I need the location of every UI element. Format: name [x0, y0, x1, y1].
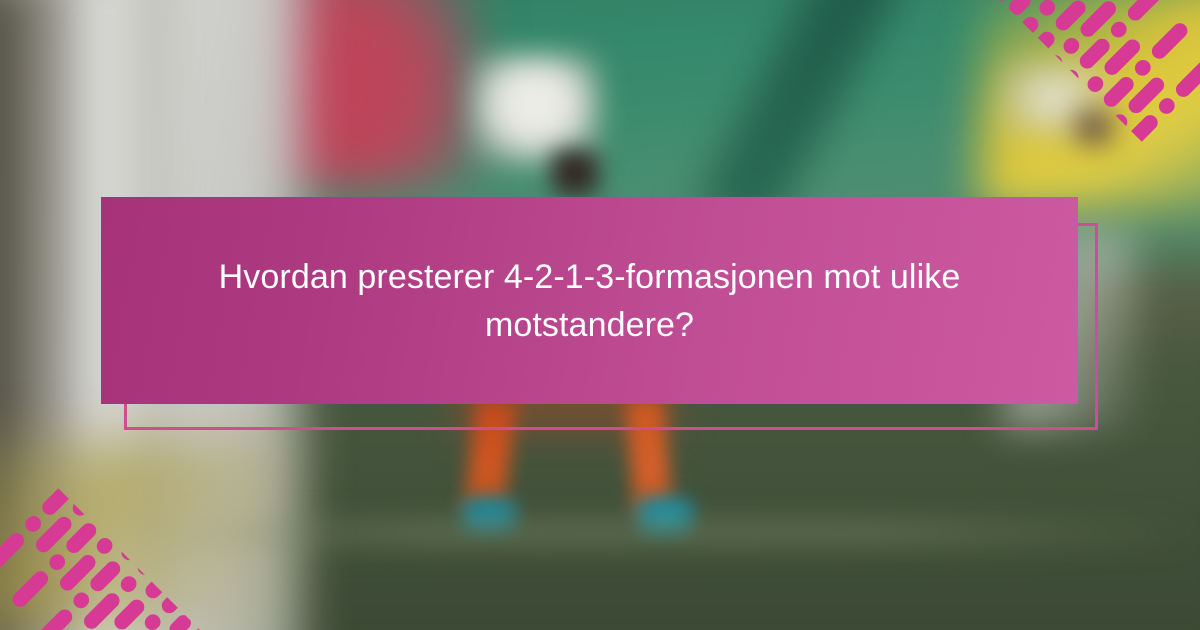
background-pitch-marking [120, 520, 1200, 546]
background-player-head [550, 150, 600, 198]
title-banner: Hvordan presterer 4-2-1-3-formasjonen mo… [101, 197, 1078, 404]
page-title: Hvordan presterer 4-2-1-3-formasjonen mo… [190, 253, 990, 349]
background-yellow-glow [0, 440, 280, 630]
background-player-head-2 [1070, 105, 1118, 150]
background-player-jersey [470, 55, 600, 165]
